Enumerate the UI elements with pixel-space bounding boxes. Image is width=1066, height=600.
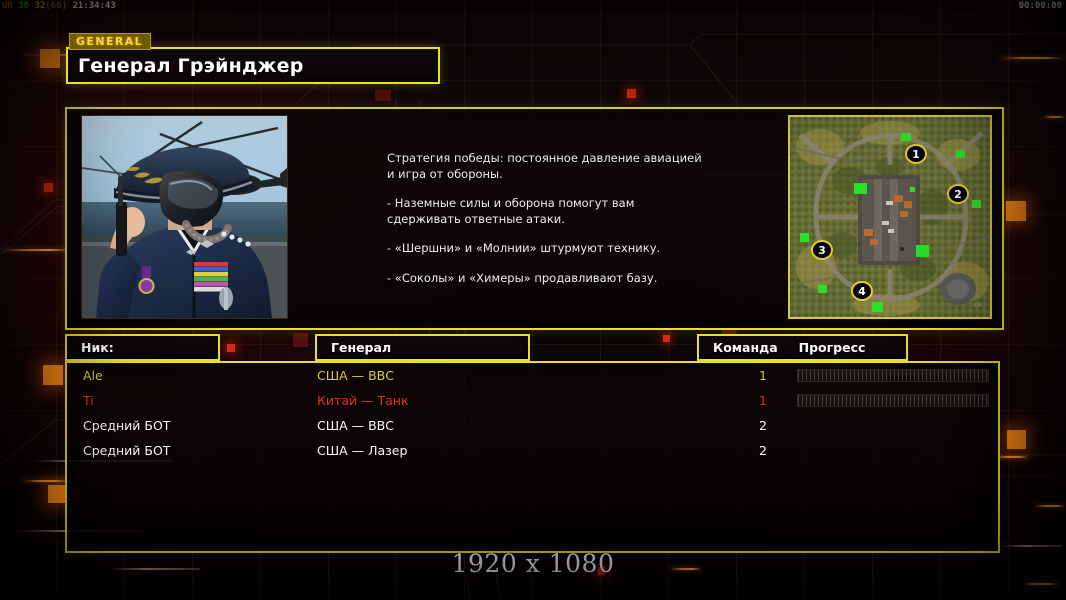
cell-general: США — ВВС <box>317 413 394 438</box>
svg-text:3: 3 <box>818 244 826 257</box>
cell-nick: Средний БОТ <box>83 438 170 463</box>
accent-strip <box>1035 505 1066 507</box>
accent-block <box>375 90 391 101</box>
general-tab-label: GENERAL <box>69 33 151 50</box>
header-nick: Ник: <box>65 334 220 361</box>
table-row[interactable]: TiКитай — Танк1 <box>67 388 998 413</box>
strategy-line-1: Стратегия победы: постоянное давление ав… <box>387 151 702 165</box>
strategy-text: Стратегия победы: постоянное давление ав… <box>387 151 737 286</box>
table-row[interactable]: Средний БОТСША — ВВС2 <box>67 413 998 438</box>
debug-hud: UR 30 32[60] 21:34:43 <box>2 1 116 12</box>
strategy-line-4: - «Соколы» и «Химеры» продавливают базу. <box>387 271 657 285</box>
general-name-box[interactable]: Генерал Грэйнджер <box>66 47 440 84</box>
player-table-header: Ник: Генерал Команда Прогресс <box>65 334 1000 361</box>
resolution-label: 1920 x 1080 <box>0 549 1066 578</box>
hud-value-2: 32 <box>35 1 46 11</box>
cell-progress <box>797 438 989 463</box>
accent-block <box>1006 201 1026 221</box>
minimap-preview[interactable]: 1 2 3 4 EA <box>788 115 992 319</box>
svg-text:4: 4 <box>858 285 866 298</box>
general-name-text: Генерал Грэйнджер <box>78 55 304 77</box>
match-clock: 00:00:00 <box>1019 1 1062 11</box>
cell-team: 2 <box>727 438 767 463</box>
player-list-panel: AleСША — ВВС1TiКитай — Танк1Средний БОТС… <box>65 361 1000 553</box>
cell-team: 1 <box>727 388 767 413</box>
svg-text:EA: EA <box>974 302 983 309</box>
table-row[interactable]: AleСША — ВВС1 <box>67 363 998 388</box>
cell-progress <box>797 363 989 388</box>
header-general-label: Генерал <box>331 340 391 355</box>
progress-bar <box>797 394 989 407</box>
accent-strip <box>1000 57 1066 59</box>
strategy-line-3: - «Шершни» и «Молнии» штурмуют технику. <box>387 241 660 255</box>
header-nick-label: Ник: <box>81 340 114 355</box>
accent-strip <box>22 480 70 482</box>
header-team-label: Команда <box>713 340 778 355</box>
hud-value-1: 30 <box>18 1 29 11</box>
player-rows: AleСША — ВВС1TiКитай — Танк1Средний БОТС… <box>67 363 998 463</box>
cell-progress <box>797 413 989 438</box>
cell-team: 2 <box>727 413 767 438</box>
accent-strip <box>0 249 72 251</box>
strategy-paragraph: - «Соколы» и «Химеры» продавливают базу. <box>387 271 737 287</box>
hud-value-3: [60] <box>45 1 67 11</box>
cell-nick: Ti <box>83 388 94 413</box>
strategy-paragraph: - «Шершни» и «Молнии» штурмуют технику. <box>387 241 737 257</box>
strategy-line-2: - Наземные силы и оборона помогут вам <box>387 196 634 210</box>
cell-progress <box>797 388 989 413</box>
cell-general: США — Лазер <box>317 438 407 463</box>
table-row[interactable]: Средний БОТСША — Лазер2 <box>67 438 998 463</box>
accent-block <box>1007 430 1026 449</box>
strategy-paragraph: - Наземные силы и оборона помогут вам сд… <box>387 196 737 227</box>
cell-nick: Средний БОТ <box>83 413 170 438</box>
cell-general: США — ВВС <box>317 363 394 388</box>
general-info-panel: Стратегия победы: постоянное давление ав… <box>65 107 1004 330</box>
accent-block <box>44 183 53 192</box>
cell-general: Китай — Танк <box>317 388 409 413</box>
accent-strip <box>1023 583 1059 585</box>
strategy-line-1b: и игра от обороны. <box>387 167 503 181</box>
cell-team: 1 <box>727 363 767 388</box>
cell-nick: Ale <box>83 363 103 388</box>
accent-block <box>43 365 63 385</box>
accent-block <box>40 49 60 68</box>
general-portrait <box>81 115 288 319</box>
header-general: Генерал <box>315 334 530 361</box>
accent-strip <box>1043 116 1066 118</box>
accent-strip <box>1002 545 1062 547</box>
progress-bar <box>797 369 989 382</box>
strategy-line-2b: сдерживать ответные атаки. <box>387 212 565 226</box>
hud-label: UR <box>2 1 13 11</box>
svg-text:1: 1 <box>912 148 920 161</box>
accent-strip <box>995 456 1029 458</box>
strategy-paragraph: Стратегия победы: постоянное давление ав… <box>387 151 737 182</box>
svg-text:2: 2 <box>954 188 962 201</box>
hud-time: 21:34:43 <box>72 1 115 11</box>
header-progress-label: Прогресс <box>799 340 866 355</box>
header-team-progress: Команда Прогресс <box>697 334 908 361</box>
accent-block <box>627 89 636 98</box>
